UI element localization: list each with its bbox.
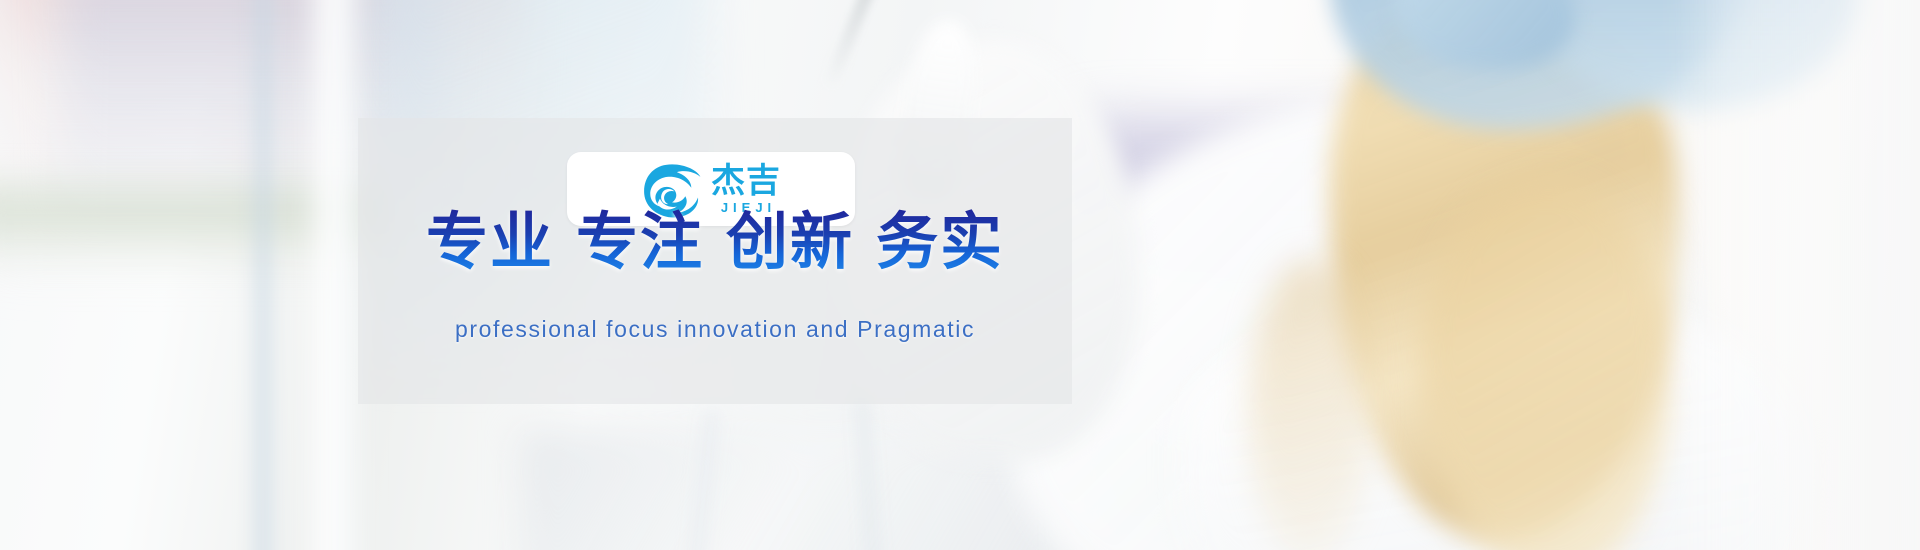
hero-banner: 杰吉 JIEJI 专业专注创新务实 professional focus inn…	[0, 0, 1920, 550]
headline: 专业专注创新务实	[358, 208, 1072, 276]
subtitle: professional focus innovation and Pragma…	[358, 316, 1072, 343]
brand-name-cn: 杰吉	[711, 164, 781, 198]
headline-word-2: 专注	[576, 205, 704, 278]
headline-word-3: 创新	[726, 205, 854, 278]
headline-word-1: 专业	[426, 205, 554, 278]
headline-word-4: 务实	[876, 205, 1004, 278]
